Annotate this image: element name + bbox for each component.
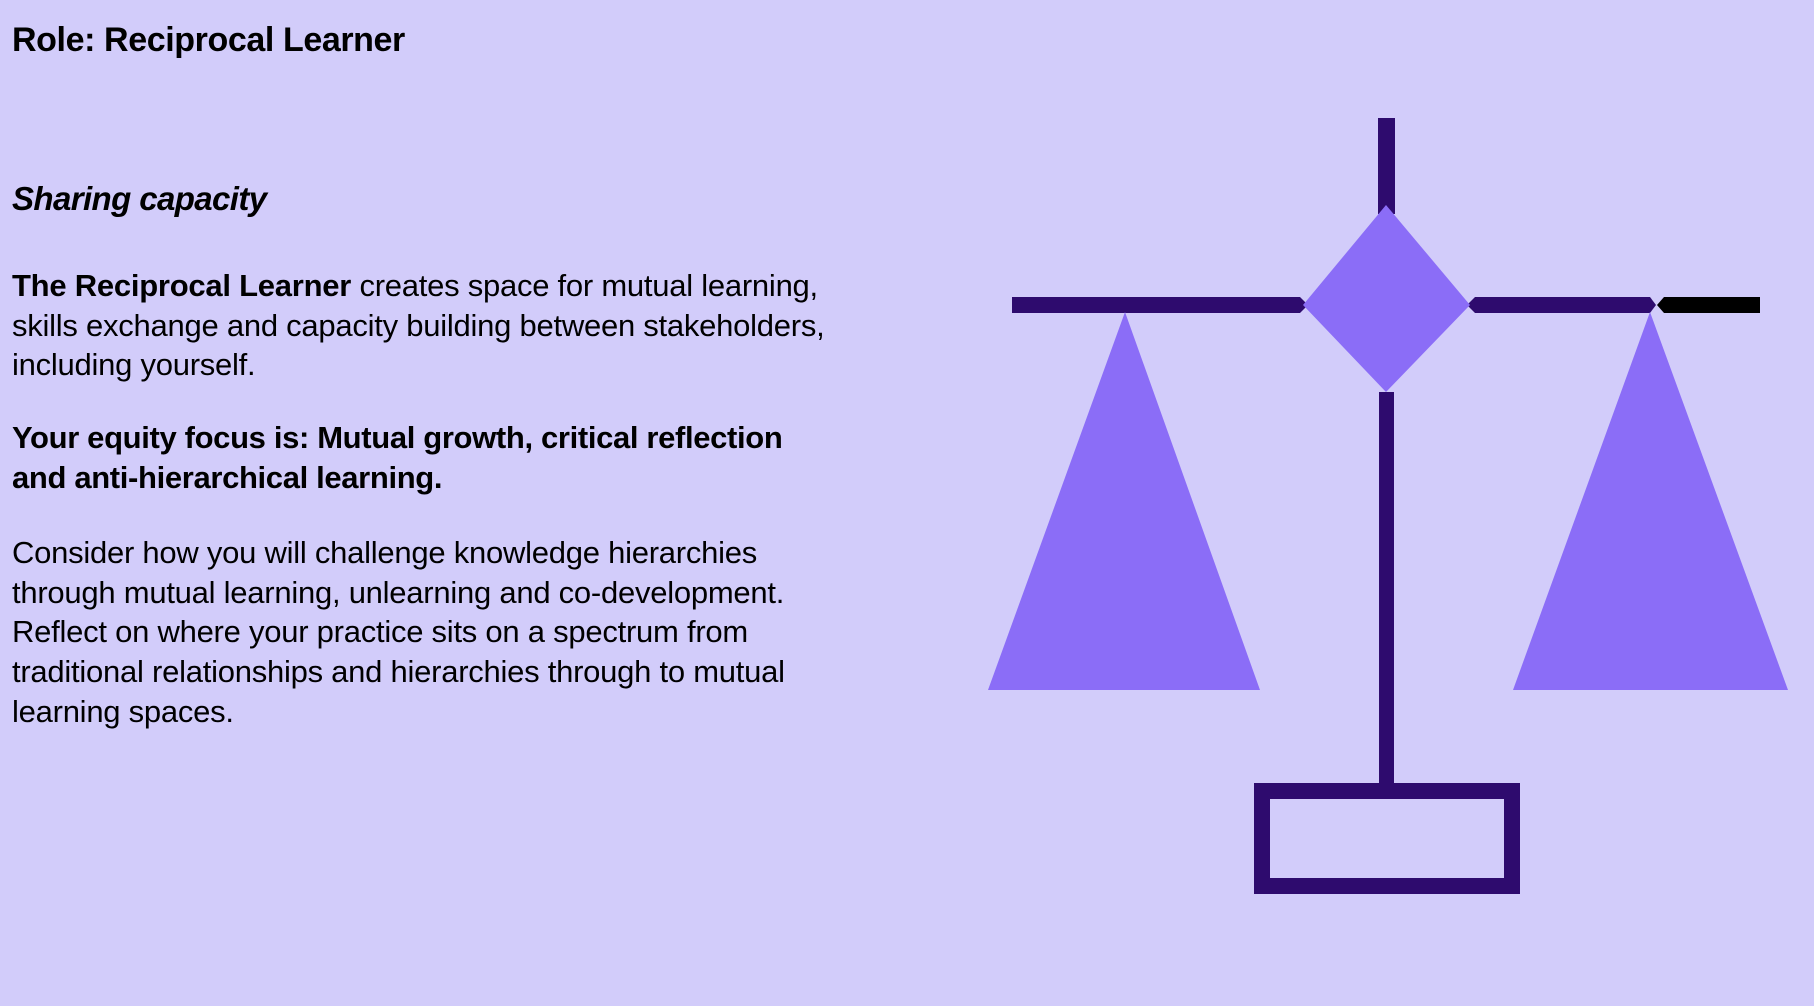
right-beam-black [1657,297,1760,313]
left-beam [1012,297,1308,313]
center-column [1379,392,1394,792]
paragraph-consider: Consider how you will challenge knowledg… [12,533,852,731]
top-post [1378,118,1395,214]
paragraph-intro: The Reciprocal Learner creates space for… [12,266,842,385]
text-column: Role: Reciprocal Learner Sharing capacit… [12,20,992,60]
paragraph-equity-focus: Your equity focus is: Mutual growth, cri… [12,418,802,497]
intro-bold-lead: The Reciprocal Learner [12,268,351,303]
base-box [1262,791,1512,886]
scales-svg [0,0,1814,1006]
balance-scales-illustration [0,0,1814,1006]
right-pan-triangle [1513,312,1788,690]
page-title: Role: Reciprocal Learner [12,20,992,60]
slide-canvas: Role: Reciprocal Learner Sharing capacit… [0,0,1814,1006]
diamond-fulcrum [1303,205,1470,392]
section-heading: Sharing capacity [12,180,267,218]
left-pan-triangle [988,312,1260,690]
right-beam-indigo [1467,297,1656,313]
